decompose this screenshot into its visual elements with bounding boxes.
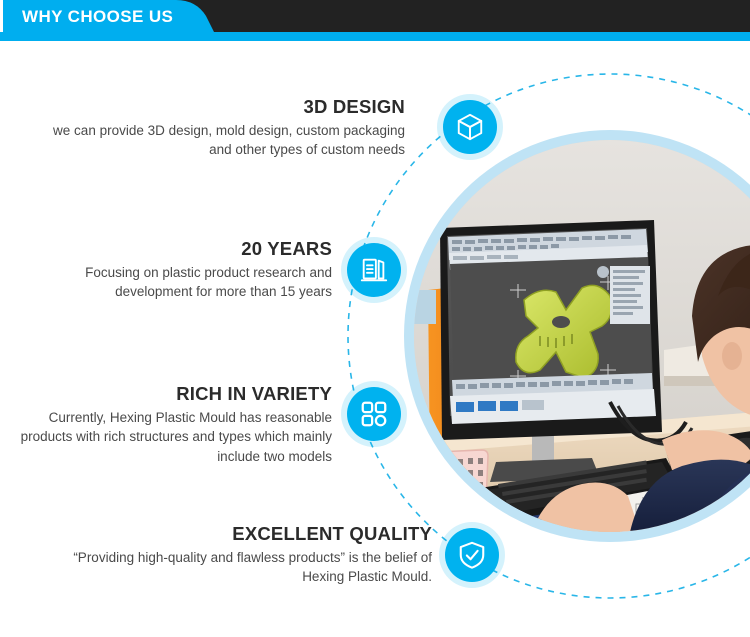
feature-description: Focusing on plastic product research and… [10,263,332,301]
feature-title: 20 YEARS [10,238,332,259]
photo-circle [414,140,750,532]
shield-check-icon[interactable] [445,528,499,582]
feature-text-block: RICH IN VARIETY Currently, Hexing Plasti… [10,383,332,466]
books-shelf-icon[interactable] [347,243,401,297]
cube-3d-icon[interactable] [443,100,497,154]
feature-description: we can provide 3D design, mold design, c… [30,121,405,159]
feature-description: Currently, Hexing Plastic Mould has reas… [10,408,332,465]
feature-text-block: 20 YEARS Focusing on plastic product res… [10,238,332,302]
feature-title: EXCELLENT QUALITY [60,523,432,544]
page-title: WHY CHOOSE US [22,7,173,27]
why-choose-us-banner: WHY CHOOSE US 3D DESIGN we can provide 3… [0,0,750,637]
feature-text-block: EXCELLENT QUALITY “Providing high-qualit… [60,523,432,587]
feature-description: “Providing high-quality and flawless pro… [60,548,432,586]
grid-squares-icon[interactable] [347,387,401,441]
feature-title: RICH IN VARIETY [10,383,332,404]
workplace-photo [414,140,750,532]
feature-text-block: 3D DESIGN we can provide 3D design, mold… [30,96,405,160]
section-header: WHY CHOOSE US [0,0,750,41]
feature-title: 3D DESIGN [30,96,405,117]
